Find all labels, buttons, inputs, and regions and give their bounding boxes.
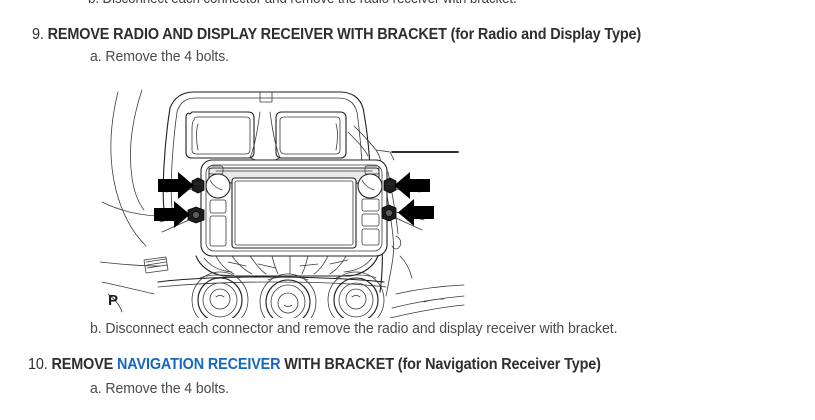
bolt-lower-right [382, 205, 396, 221]
dashboard-line-drawing: .ln { fill:none; stroke:#1f1f1f; stroke-… [100, 86, 465, 318]
step-9a-text: a. Remove the 4 bolts. [90, 48, 238, 65]
step-10-title-after: WITH BRACKET (for Navigation Receiver Ty… [280, 356, 600, 373]
receiver-screen [232, 178, 356, 248]
manual-page: b. Disconnect each connector and remove … [0, 0, 815, 420]
step-9-number: 9. [32, 26, 44, 43]
receiver-volume-knob [206, 174, 230, 198]
step-9-title: REMOVE RADIO AND DISPLAY RECEIVER WITH B… [48, 26, 641, 43]
step-10-heading: 10. REMOVE NAVIGATION RECEIVER WITH BRAC… [28, 356, 644, 374]
clipped-previous-substep: b. Disconnect each connector and remove … [88, 0, 732, 7]
step-9-heading: 9. REMOVE RADIO AND DISPLAY RECEIVER WIT… [32, 26, 687, 44]
step-10-title-before: REMOVE [52, 356, 118, 373]
radio-display-receiver [201, 160, 387, 256]
bolt-lower-left [188, 207, 204, 223]
step-10-number: 10. [28, 356, 48, 373]
figure-label-p: P [108, 292, 118, 309]
dashboard-figure: .ln { fill:none; stroke:#1f1f1f; stroke-… [100, 86, 465, 318]
step-9b-text: b. Disconnect each connector and remove … [90, 320, 651, 337]
step-10-title-highlight: NAVIGATION RECEIVER [117, 356, 280, 373]
receiver-tune-knob [358, 174, 382, 198]
step-10a-text: a. Remove the 4 bolts. [90, 380, 238, 397]
